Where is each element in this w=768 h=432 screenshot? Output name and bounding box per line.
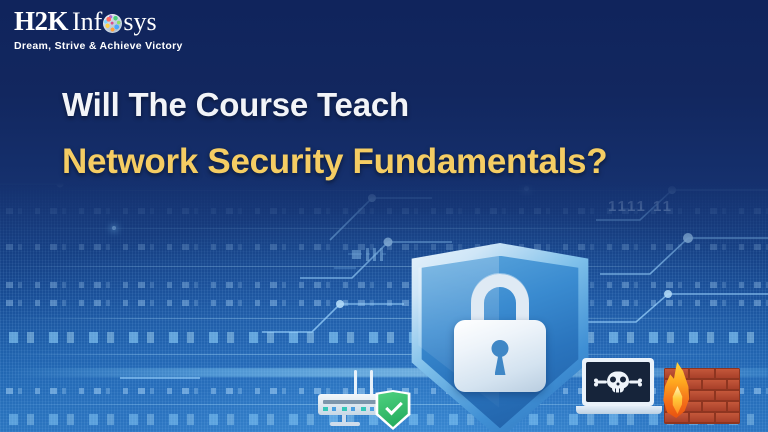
laptop-base bbox=[576, 406, 662, 414]
bone-icon bbox=[596, 381, 607, 384]
router-strip bbox=[323, 400, 379, 404]
flame-icon bbox=[654, 362, 700, 420]
headline-line-2: Network Security Fundamentals? bbox=[62, 144, 607, 179]
skull-head bbox=[607, 372, 629, 389]
skull-nose bbox=[617, 383, 620, 386]
laptop-screen-inner bbox=[586, 362, 650, 402]
logo-sys-text: sys bbox=[123, 9, 156, 35]
circuit-node bbox=[524, 186, 529, 191]
circuit-node bbox=[112, 226, 116, 230]
globe-icon bbox=[103, 14, 122, 33]
brand-logo[interactable]: H2K Inf sys Dream, Strive & Achieve Vict… bbox=[14, 8, 183, 52]
security-shield-padlock-icon bbox=[404, 243, 596, 432]
skull-eye bbox=[620, 377, 626, 383]
headline-block: Will The Course Teach Network Security F… bbox=[62, 88, 607, 179]
brand-tagline: Dream, Strive & Achieve Victory bbox=[14, 40, 183, 52]
router-foot bbox=[330, 422, 360, 426]
padlock-body bbox=[454, 320, 546, 392]
laptop-screen bbox=[582, 358, 654, 406]
logo-inf-text: Inf bbox=[72, 9, 102, 35]
router-protected-icon bbox=[318, 366, 410, 428]
binary-text: 1111 11 bbox=[608, 198, 673, 215]
logo-h2k-text: H2K bbox=[14, 8, 68, 35]
router-antenna-icon bbox=[370, 370, 373, 396]
checkmark-icon bbox=[385, 398, 403, 416]
laptop-skull-malware-icon bbox=[576, 358, 662, 424]
padlock-keyhole bbox=[492, 340, 509, 357]
brick-row bbox=[664, 423, 740, 424]
skull-eye bbox=[610, 377, 616, 383]
skull-crossbones-icon bbox=[605, 372, 631, 393]
slide-canvas: 1111 11 H2K Inf sys Dream, Strive & Achi… bbox=[0, 0, 768, 432]
green-check-shield-icon bbox=[374, 390, 412, 430]
headline-line-1: Will The Course Teach bbox=[62, 88, 607, 121]
padlock-shackle bbox=[471, 274, 529, 326]
bone-icon bbox=[629, 381, 640, 384]
firewall-icon bbox=[654, 362, 740, 424]
router-antenna-icon bbox=[354, 370, 357, 396]
logo-wordmark: H2K Inf sys bbox=[14, 8, 183, 35]
green-shield-fill bbox=[377, 392, 409, 427]
padlock-icon bbox=[454, 274, 546, 392]
router-led-indicators bbox=[323, 407, 379, 411]
